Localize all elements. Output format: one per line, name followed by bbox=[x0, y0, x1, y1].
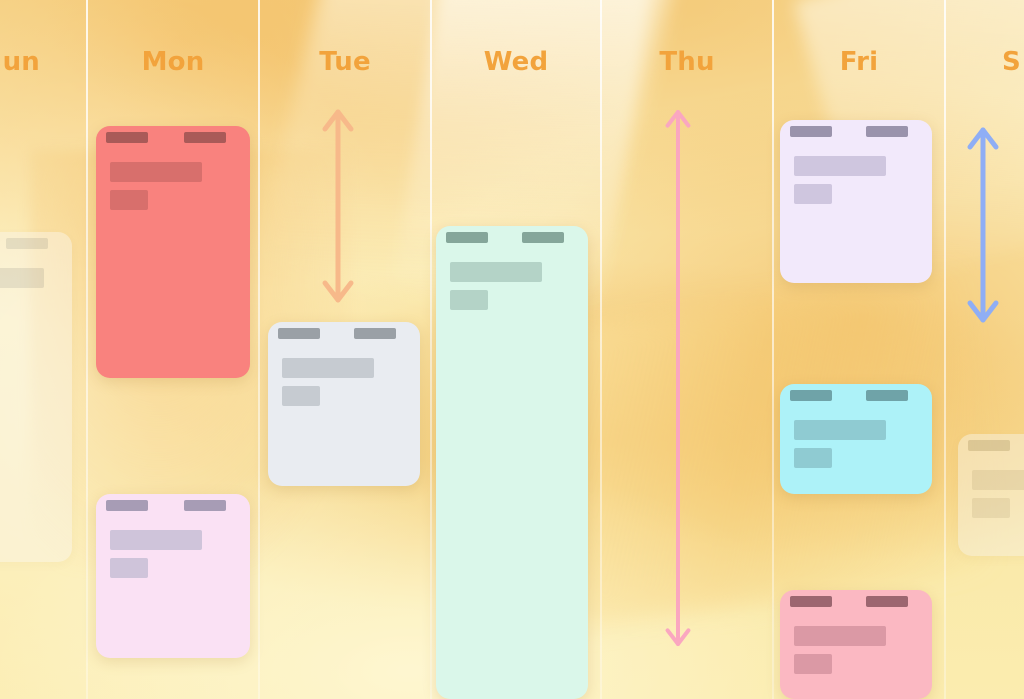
arrow-annotation-layer bbox=[0, 0, 1024, 699]
arrow-sat-arrow bbox=[965, 128, 1001, 322]
week-calendar-view: unMonTueWedThuFriS bbox=[0, 0, 1024, 699]
arrow-tue-arrow bbox=[320, 110, 356, 302]
arrow-thu-arrow bbox=[660, 110, 696, 646]
